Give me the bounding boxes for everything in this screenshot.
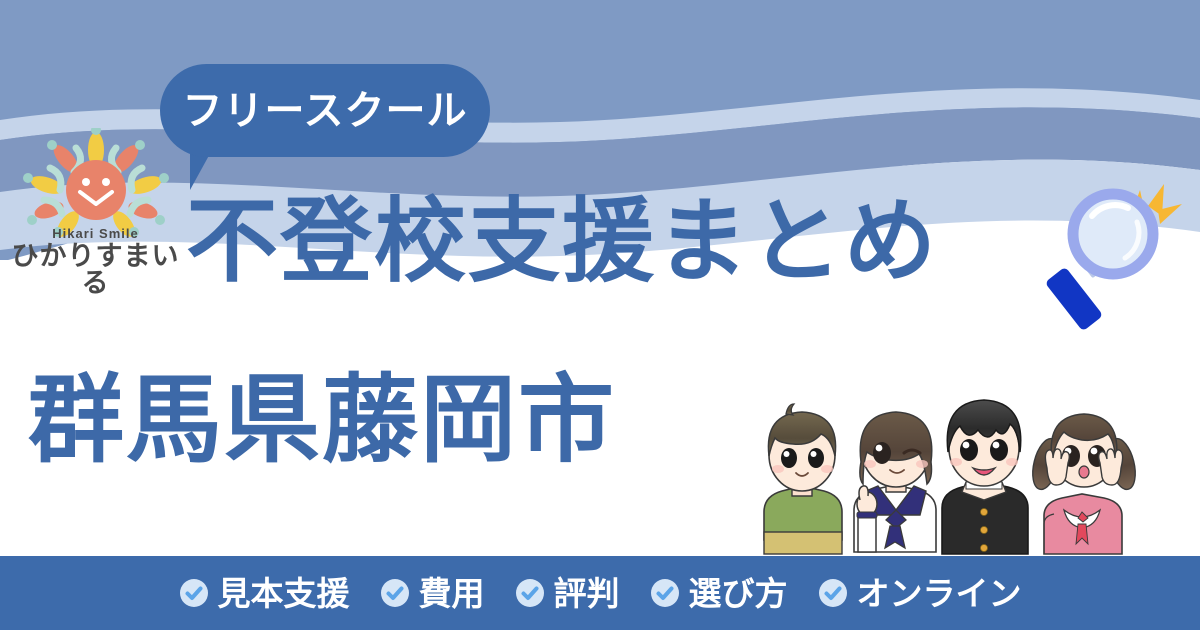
headline-secondary: 群馬県藤岡市 <box>28 372 616 468</box>
category-badge-label: フリースクール <box>183 91 468 131</box>
magnifying-glass-icon <box>1036 172 1196 342</box>
check-circle-icon <box>818 578 848 608</box>
keyword-tag[interactable]: オンライン <box>818 577 1022 610</box>
headline-primary: 不登校支援まとめ <box>186 196 938 288</box>
student-gakuran-uniform <box>942 400 1028 554</box>
site-logo: Hikari Smile ひかりすまいる <box>8 128 183 297</box>
keyword-bar: 見本支援 費用 評判 選び方 <box>0 556 1200 630</box>
logo-japanese-name: ひかりすまいる <box>8 243 183 297</box>
student-pink-dress <box>1028 414 1140 554</box>
keyword-tag-label: オンライン <box>857 577 1022 610</box>
student-sailor-uniform <box>854 412 936 552</box>
check-circle-icon <box>650 578 680 608</box>
check-circle-icon <box>179 578 209 608</box>
logo-english-name: Hikari Smile <box>8 226 183 241</box>
four-students-illustration <box>744 352 1200 557</box>
keyword-tag[interactable]: 評判 <box>515 577 620 610</box>
keyword-tag-label: 選び方 <box>689 577 788 610</box>
keyword-tag[interactable]: 費用 <box>380 577 485 610</box>
check-circle-icon <box>515 578 545 608</box>
sun-people-logo-icon <box>16 128 176 240</box>
student-green-shirt <box>764 404 842 554</box>
headline-line-2: 群馬県藤岡市 <box>28 372 616 468</box>
keyword-tag-label: 評判 <box>554 577 620 610</box>
keyword-tag[interactable]: 見本支援 <box>179 577 350 610</box>
category-badge: フリースクール <box>160 64 490 157</box>
ogp-banner: フリースクール <box>0 0 1200 630</box>
keyword-tag[interactable]: 選び方 <box>650 577 788 610</box>
keyword-tag-label: 見本支援 <box>218 577 350 610</box>
headline-line-1: 不登校支援まとめ <box>186 196 938 288</box>
check-circle-icon <box>380 578 410 608</box>
keyword-tag-label: 費用 <box>419 577 485 610</box>
